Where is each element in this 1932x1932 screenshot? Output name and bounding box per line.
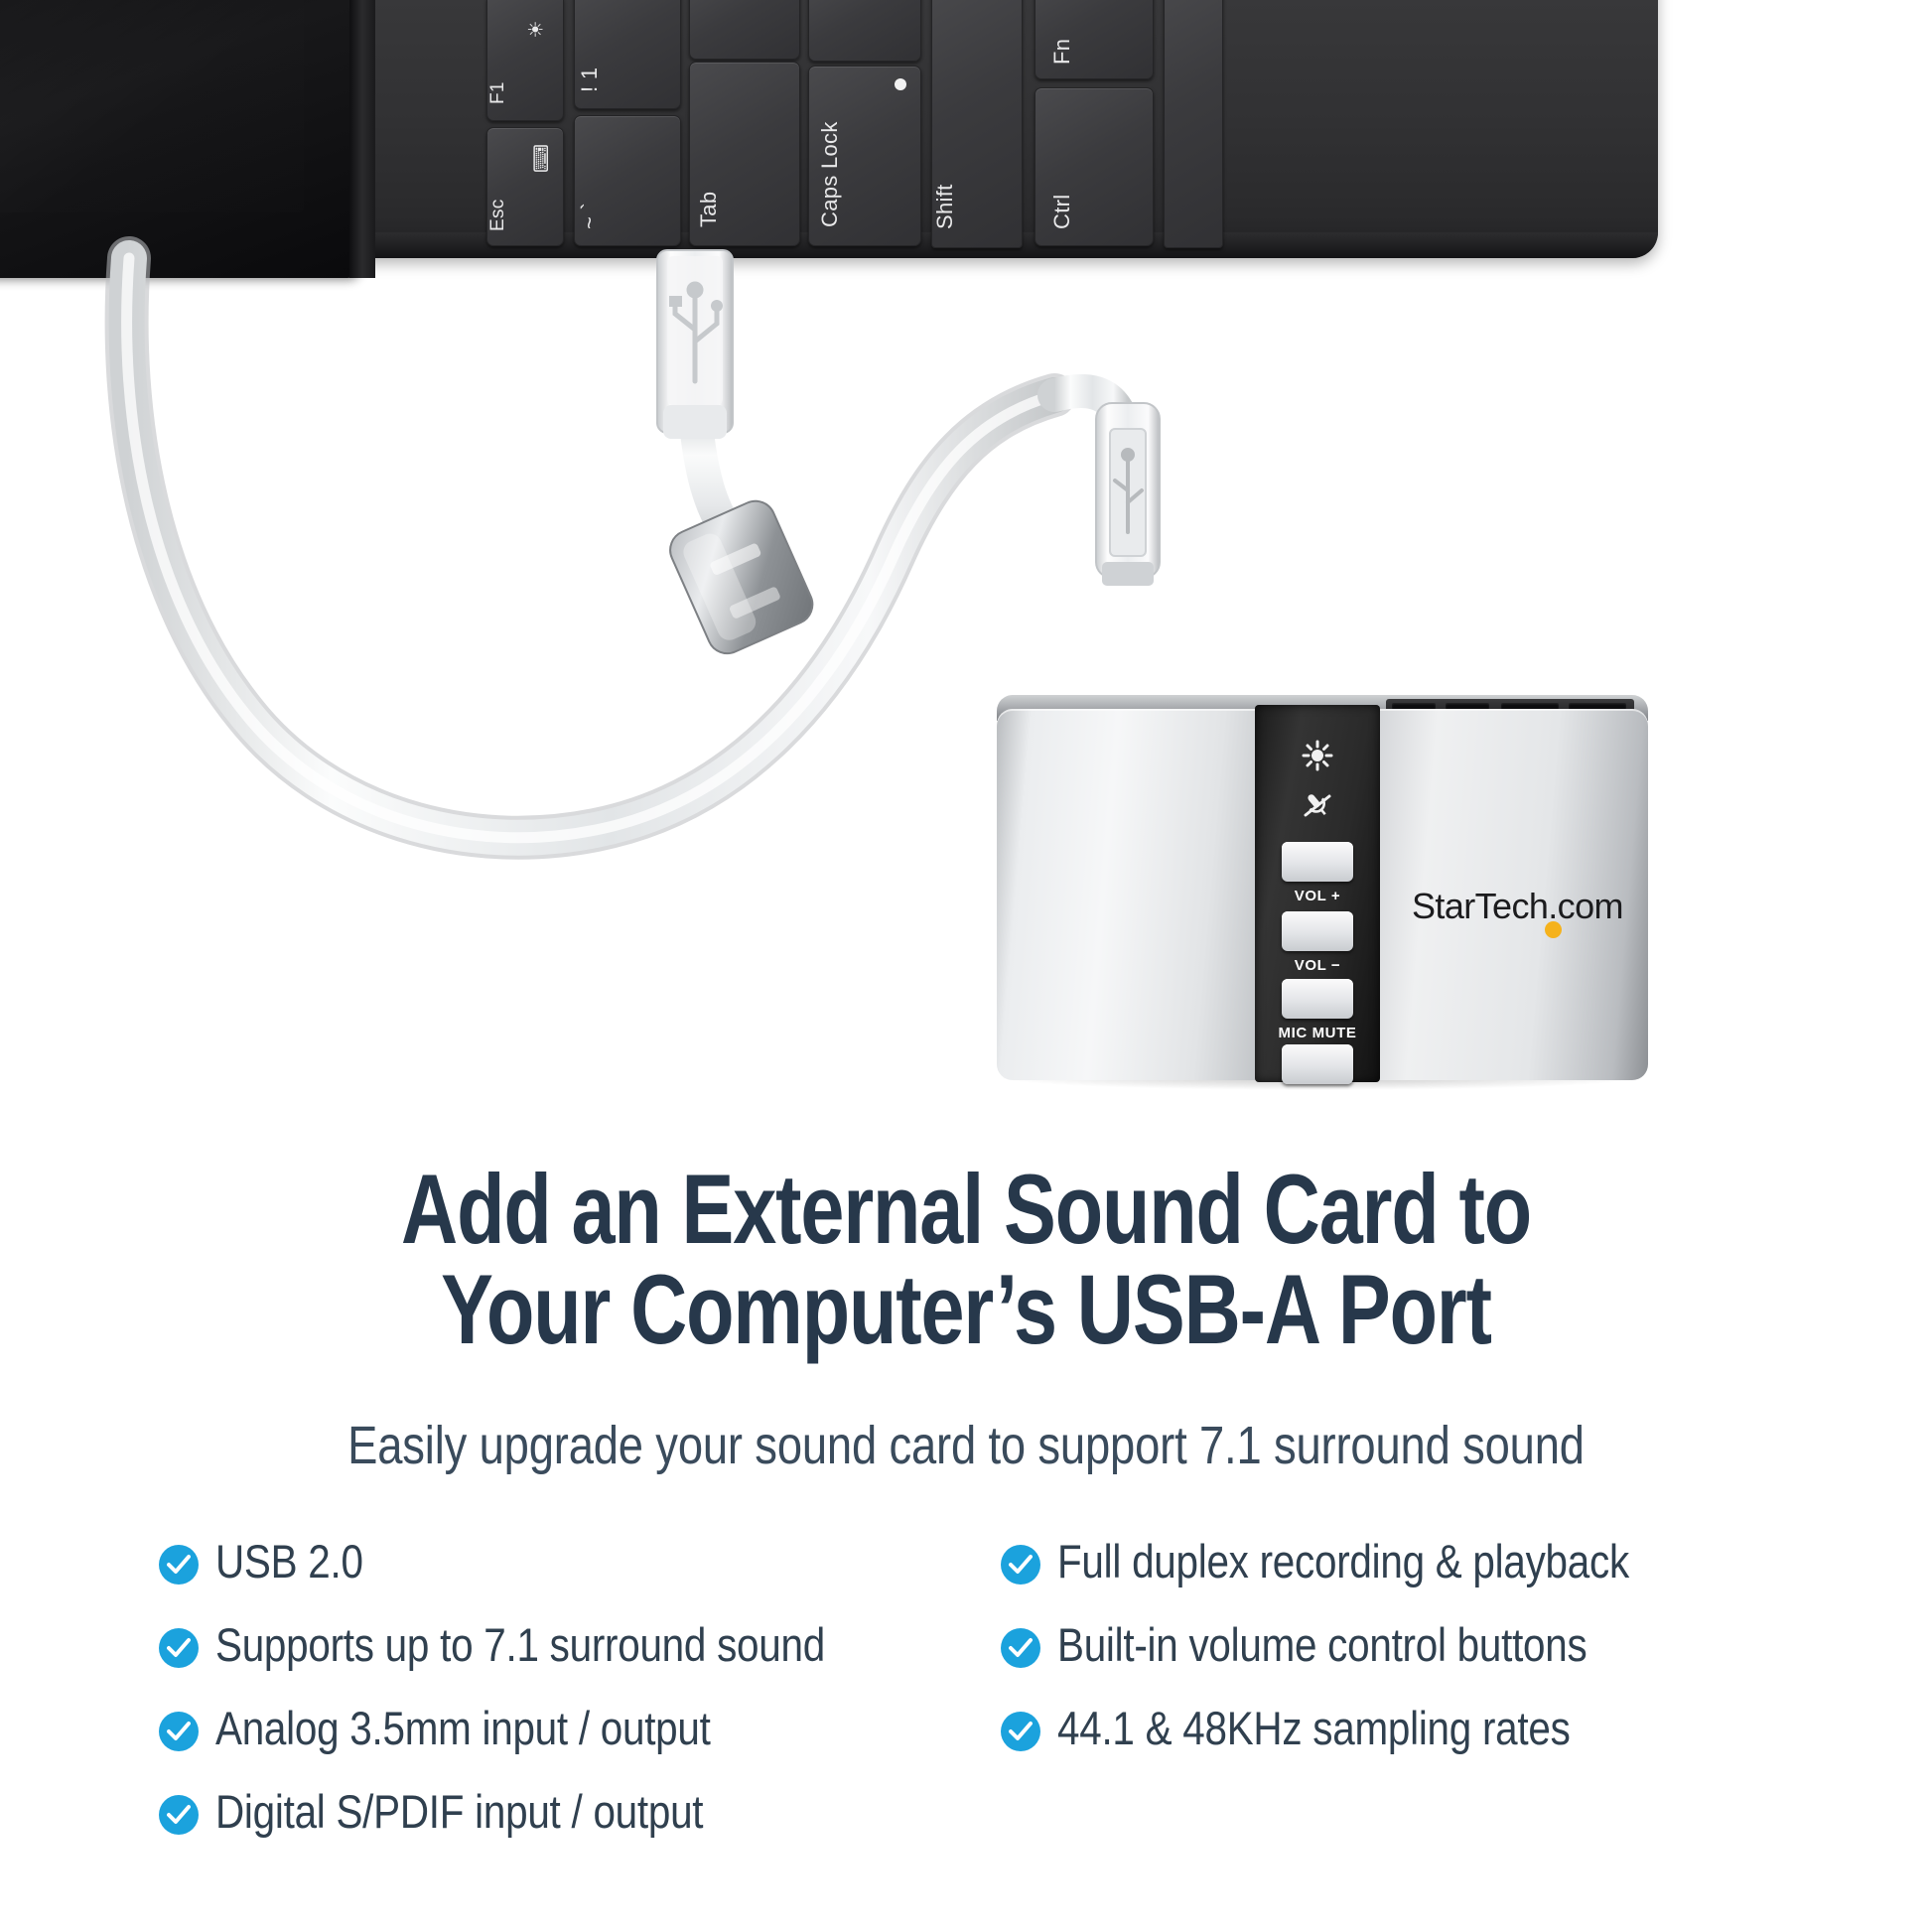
check-circle-icon [159,1795,199,1835]
mini-usb-connector [1096,403,1160,586]
startech-logo: StarTech.com [1412,886,1623,927]
check-circle-icon [1001,1712,1040,1751]
product-marketing-page: ☀ F1 ⌨ Esc ! 1 ~ ` Tab Caps Lock Shift F… [0,0,1932,1932]
list-item: Digital S/PDIF input / output [159,1787,941,1845]
check-circle-icon [159,1628,199,1668]
check-circle-icon [159,1545,199,1585]
check-circle-icon [1001,1628,1040,1668]
list-item: USB 2.0 [159,1537,941,1594]
list-item: Full duplex recording & playback [1001,1537,1783,1594]
usb-sound-card-device: StarTech.com [989,695,1656,1092]
mic-mute-led-icon [1301,788,1334,828]
product-photo: ☀ F1 ⌨ Esc ! 1 ~ ` Tab Caps Lock Shift F… [0,0,1932,1142]
feature-label: 44.1 & 48KHz sampling rates [1057,1704,1571,1754]
device-right-panel: StarTech.com [1378,709,1648,1080]
mic-mute-button[interactable] [1282,979,1353,1019]
feature-column-left: USB 2.0 Supports up to 7.1 surround soun… [159,1537,941,1870]
feature-list: USB 2.0 Supports up to 7.1 surround soun… [0,1537,1932,1870]
ferrite-bead [664,494,819,659]
page-title: Add an External Sound Card to Your Compu… [194,1160,1739,1360]
usb-a-connector [657,250,733,439]
feature-label: Analog 3.5mm input / output [215,1704,711,1754]
list-item: Analog 3.5mm input / output [159,1704,941,1761]
page-subtitle: Easily upgrade your sound card to suppor… [155,1415,1778,1476]
list-item: Built-in volume control buttons [1001,1620,1783,1678]
feature-label: Digital S/PDIF input / output [215,1787,703,1838]
list-item: Supports up to 7.1 surround sound [159,1620,941,1678]
device-left-panel [997,709,1257,1080]
feature-label: Full duplex recording & playback [1057,1537,1629,1587]
check-circle-icon [159,1712,199,1751]
headline-line-2: Your Computer’s USB-A Port [441,1254,1491,1364]
vol-up-button[interactable] [1282,842,1353,882]
feature-label: Supports up to 7.1 surround sound [215,1620,825,1671]
device-control-strip: VOL + VOL − MIC MUTE VOL MUTE [1255,705,1380,1082]
power-led-icon [1301,739,1334,778]
vol-down-button[interactable] [1282,911,1353,951]
feature-column-right: Full duplex recording & playback Built-i… [941,1537,1783,1870]
list-item: 44.1 & 48KHz sampling rates [1001,1704,1783,1761]
feature-label: Built-in volume control buttons [1057,1620,1587,1671]
feature-label: USB 2.0 [215,1537,363,1587]
headline-line-1: Add an External Sound Card to [401,1154,1531,1264]
check-circle-icon [1001,1545,1040,1585]
startech-logo-dot [1545,921,1562,938]
vol-mute-button[interactable] [1282,1044,1353,1084]
